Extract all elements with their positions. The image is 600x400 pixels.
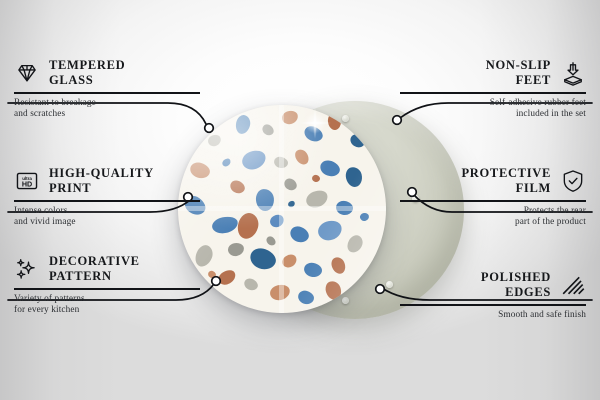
feature-title: HIGH-QUALITY bbox=[49, 166, 154, 181]
feature-tempered-glass: TEMPERED GLASS Resistant to breakage and… bbox=[14, 58, 200, 121]
rubber-foot bbox=[386, 281, 393, 288]
shield-check-icon bbox=[560, 168, 586, 194]
feature-desc: Resistant to breakage bbox=[14, 98, 200, 110]
divider bbox=[400, 200, 586, 202]
feature-title: FEET bbox=[486, 73, 551, 88]
divider bbox=[400, 92, 586, 94]
feature-desc: Protects the rear bbox=[400, 206, 586, 218]
feature-title: PRINT bbox=[49, 181, 154, 196]
infographic-canvas: TEMPERED GLASS Resistant to breakage and… bbox=[0, 0, 600, 400]
feature-title: EDGES bbox=[481, 285, 551, 300]
sparkles-icon bbox=[14, 256, 40, 282]
feature-protective-film: PROTECTIVE FILM Protects the rear part o… bbox=[400, 166, 586, 229]
diamond-icon bbox=[14, 60, 40, 86]
feature-desc: for every kitchen bbox=[14, 305, 200, 317]
feature-desc: Variety of patterns bbox=[14, 294, 200, 306]
divider bbox=[400, 304, 586, 306]
ultra-hd-icon: ultra HD bbox=[14, 168, 40, 194]
feature-title: POLISHED bbox=[481, 270, 551, 285]
terrazzo-glass-board bbox=[178, 105, 386, 313]
feature-desc: included in the set bbox=[400, 109, 586, 121]
feature-high-quality-print: ultra HD HIGH-QUALITY PRINT Intense colo… bbox=[14, 166, 200, 229]
feature-title: GLASS bbox=[49, 73, 125, 88]
feature-non-slip-feet: NON-SLIP FEET Self-adhesive rubber feet … bbox=[400, 58, 586, 121]
feature-title: NON-SLIP bbox=[486, 58, 551, 73]
feature-desc: and vivid image bbox=[14, 217, 200, 229]
feature-desc: Self-adhesive rubber feet bbox=[400, 98, 586, 110]
feature-title: FILM bbox=[461, 181, 551, 196]
feature-polished-edges: POLISHED EDGES Smooth and safe finish bbox=[400, 270, 586, 321]
press-down-pad-icon bbox=[560, 60, 586, 86]
svg-text:HD: HD bbox=[22, 180, 32, 188]
feature-title: PROTECTIVE bbox=[461, 166, 551, 181]
feature-title: PATTERN bbox=[49, 269, 140, 284]
feature-desc: Intense colors bbox=[14, 206, 200, 218]
terrazzo-pattern bbox=[178, 105, 386, 313]
feature-desc: part of the product bbox=[400, 217, 586, 229]
feature-decorative-pattern: DECORATIVE PATTERN Variety of patterns f… bbox=[14, 254, 200, 317]
divider bbox=[14, 288, 200, 290]
feature-title: TEMPERED bbox=[49, 58, 125, 73]
divider bbox=[14, 200, 200, 202]
feature-desc: and scratches bbox=[14, 109, 200, 121]
feature-desc: Smooth and safe finish bbox=[400, 310, 586, 322]
diagonal-lines-icon bbox=[560, 272, 586, 298]
feature-title: DECORATIVE bbox=[49, 254, 140, 269]
divider bbox=[14, 92, 200, 94]
